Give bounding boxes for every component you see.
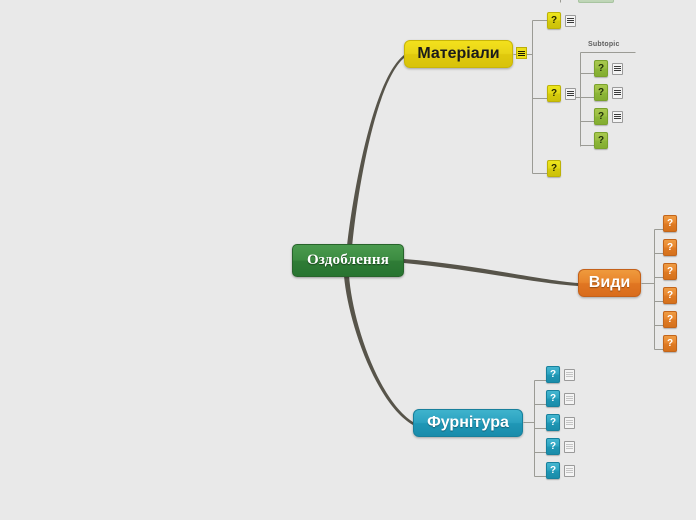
leaf-chip: ?	[547, 160, 561, 177]
leaf-chip: ?	[663, 287, 677, 304]
leaf-node[interactable]: ?	[546, 462, 575, 479]
blank-note-icon[interactable]	[564, 441, 575, 453]
mindmap-canvas: Оздоблення Матеріали Види Фурнітура Subt…	[0, 0, 696, 520]
blank-note-icon[interactable]	[564, 417, 575, 429]
leaf-chip: ?	[594, 84, 608, 101]
node-branch-vydy[interactable]: Види	[578, 269, 641, 297]
leaf-node[interactable]: ?	[547, 160, 561, 177]
leaf-node[interactable]: ?	[546, 390, 575, 407]
leaf-chip: ?	[546, 414, 560, 431]
leaf-node[interactable]: ?	[663, 215, 677, 232]
blank-note-icon[interactable]	[564, 465, 575, 477]
leaf-node[interactable]: ?	[663, 311, 677, 328]
leaf-node[interactable]: ?	[663, 263, 677, 280]
connector-central-materialy	[347, 55, 404, 248]
node-branch-furnitura-label: Фурнітура	[427, 414, 509, 432]
node-central-label: Оздоблення	[307, 252, 389, 269]
leaf-chip: ?	[663, 311, 677, 328]
leaf-chip: ?	[594, 108, 608, 125]
connector-central-vydy	[404, 259, 578, 286]
notes-icon[interactable]	[612, 63, 623, 75]
leaf-node[interactable]: ?	[663, 287, 677, 304]
leaf-chip: ?	[547, 12, 561, 29]
leaf-node[interactable]: ?	[547, 85, 576, 102]
leaf-node[interactable]: ?	[547, 12, 576, 29]
notes-icon[interactable]	[516, 47, 527, 59]
leaf-chip: ?	[546, 438, 560, 455]
leaf-node[interactable]: ?	[594, 60, 623, 77]
leaf-chip: ?	[594, 60, 608, 77]
leaf-chip: ?	[594, 132, 608, 149]
leaf-node[interactable]: ?	[546, 366, 575, 383]
node-cutoff-partial[interactable]	[578, 0, 614, 3]
notes-icon[interactable]	[565, 15, 576, 27]
subtopic-caption: Subtopic	[588, 41, 620, 48]
leaf-chip: ?	[663, 215, 677, 232]
leaf-node[interactable]: ?	[594, 84, 623, 101]
leaf-chip: ?	[546, 390, 560, 407]
blank-note-icon[interactable]	[564, 393, 575, 405]
notes-icon[interactable]	[612, 87, 623, 99]
notes-icon[interactable]	[612, 111, 623, 123]
leaf-chip: ?	[546, 366, 560, 383]
node-branch-furnitura[interactable]: Фурнітура	[413, 409, 523, 437]
node-central-ozdoblennya[interactable]: Оздоблення	[292, 244, 404, 277]
blank-note-icon[interactable]	[564, 369, 575, 381]
node-branch-materialy[interactable]: Матеріали	[404, 40, 513, 68]
leaf-node[interactable]: ?	[594, 108, 623, 125]
leaf-node[interactable]: ?	[546, 414, 575, 431]
notes-icon[interactable]	[565, 88, 576, 100]
connector-central-furnitura	[344, 275, 413, 425]
leaf-node[interactable]: ?	[594, 132, 608, 149]
leaf-node[interactable]: ?	[663, 239, 677, 256]
leaf-chip: ?	[546, 462, 560, 479]
leaf-node[interactable]: ?	[663, 335, 677, 352]
leaf-chip: ?	[663, 335, 677, 352]
node-branch-materialy-label: Матеріали	[417, 45, 499, 63]
leaf-chip: ?	[663, 263, 677, 280]
node-branch-vydy-label: Види	[589, 274, 630, 292]
leaf-chip: ?	[663, 239, 677, 256]
leaf-node[interactable]: ?	[546, 438, 575, 455]
leaf-chip: ?	[547, 85, 561, 102]
